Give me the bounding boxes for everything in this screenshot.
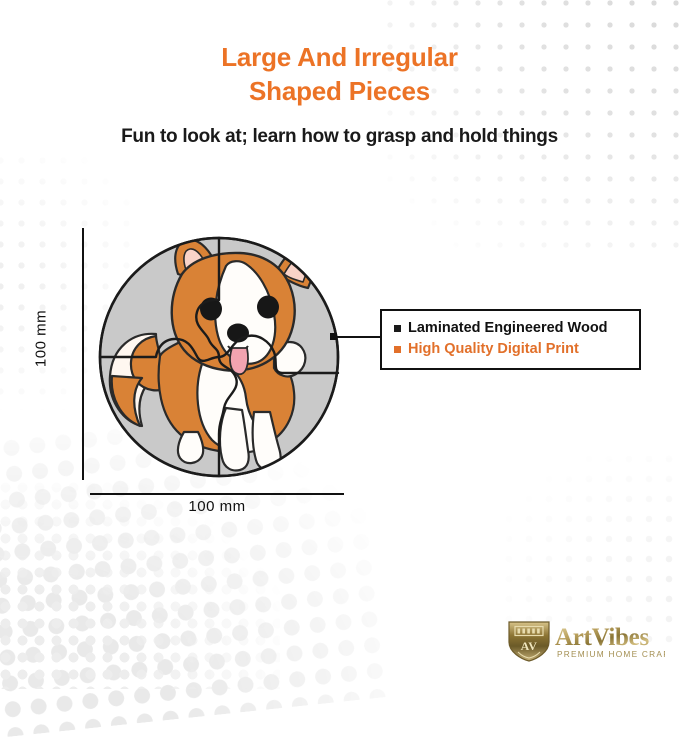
infographic-canvas: Large And Irregular Shaped Pieces Fun to… [0,0,679,679]
callout-item-label: High Quality Digital Print [408,339,579,360]
page-subtitle: Fun to look at; learn how to grasp and h… [0,126,679,148]
svg-text:AV: AV [521,639,538,653]
page-title: Large And Irregular Shaped Pieces [0,40,679,109]
dimension-line-horizontal [90,493,344,495]
dimension-label-height: 100 mm [33,289,50,389]
dimension-label-width: 100 mm [137,498,297,515]
materials-callout-box: Laminated Engineered Wood High Quality D… [380,309,641,370]
brand-tagline: PREMIUM HOME CRAFTS [557,649,665,659]
square-bullet-icon [394,346,401,353]
title-line-1: Large And Irregular [0,40,679,74]
dimension-line-vertical [82,228,84,480]
brand-wordmark: ArtVibes [555,624,649,651]
title-line-2: Shaped Pieces [0,74,679,108]
callout-item-digital-print: High Quality Digital Print [394,339,629,360]
corgi-puzzle-illustration [98,236,340,478]
callout-leader-line [334,336,381,338]
square-bullet-icon [394,325,401,332]
callout-item-laminated-wood: Laminated Engineered Wood [394,318,629,339]
callout-item-label: Laminated Engineered Wood [408,318,608,339]
shield-icon: AV [509,622,549,661]
brand-logo: AV ArtVibes PREMIUM HOME CRAFTS [505,618,665,664]
